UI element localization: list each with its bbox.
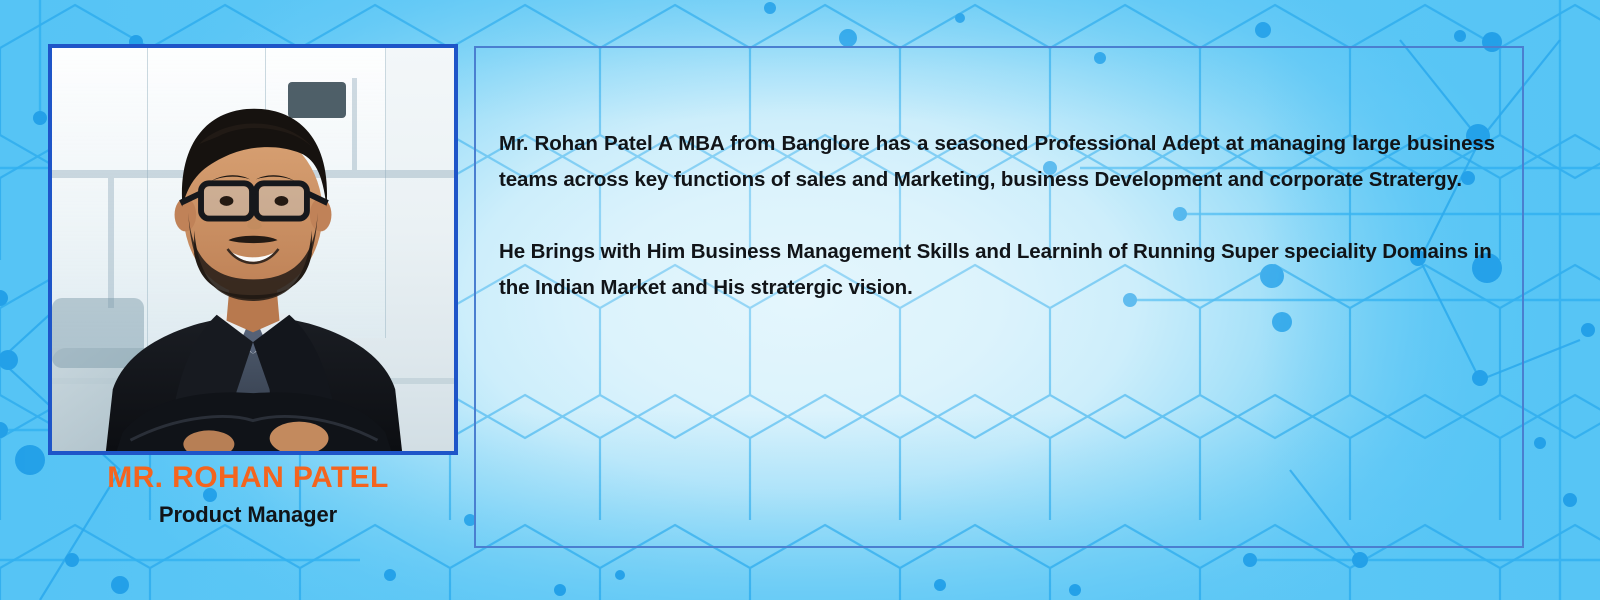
bio-paragraph-spacer (499, 198, 1495, 234)
profile-name-block: MR. ROHAN PATEL Product Manager (48, 462, 448, 527)
profile-banner: MR. ROHAN PATEL Product Manager Mr. Roha… (0, 0, 1600, 600)
bio-text-content: Mr. Rohan Patel A MBA from Banglore has … (499, 126, 1495, 306)
bio-paragraph-1: Mr. Rohan Patel A MBA from Banglore has … (499, 126, 1495, 198)
profile-photo (52, 48, 454, 451)
bio-text-box: Mr. Rohan Patel A MBA from Banglore has … (474, 46, 1524, 548)
portrait-figure (52, 48, 454, 451)
profile-photo-card (48, 44, 458, 455)
profile-role: Product Manager (48, 503, 448, 527)
profile-name: MR. ROHAN PATEL (48, 462, 448, 494)
bio-paragraph-2: He Brings with Him Business Management S… (499, 234, 1495, 306)
